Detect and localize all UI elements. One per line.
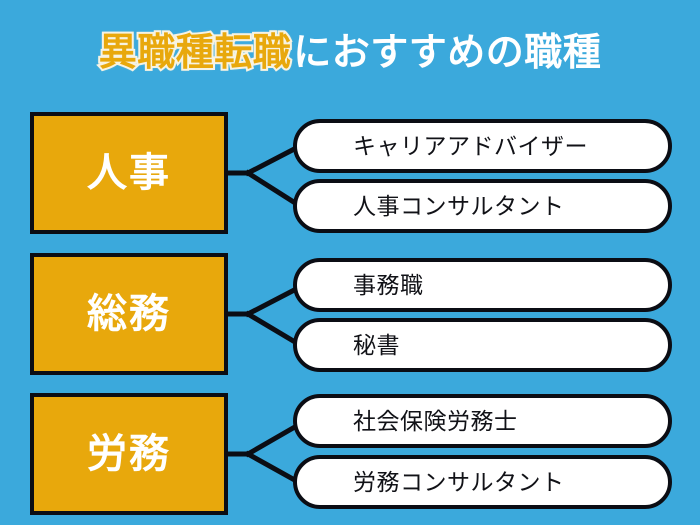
title-highlight: 異職種転職 (99, 34, 292, 72)
job-pill-label: 社会保険労務士 (353, 410, 518, 433)
connector-line (248, 287, 300, 314)
job-pill-label: 人事コンサルタント (353, 195, 565, 218)
connector-line (248, 314, 300, 345)
infographic-canvas: 異職種転職におすすめの職種 人事キャリアアドバイザー人事コンサルタント総務事務職… (0, 0, 700, 525)
job-pill[interactable]: 事務職 (293, 258, 672, 312)
job-pill[interactable]: キャリアアドバイザー (293, 119, 672, 173)
job-pill-label: 秘書 (353, 334, 400, 357)
category-label: 総務 (87, 294, 171, 334)
title-rest: におすすめの職種 (293, 34, 601, 72)
category-box[interactable]: 労務 (30, 393, 228, 515)
category-label: 労務 (87, 434, 171, 474)
connector-line (248, 424, 300, 454)
connector-line (248, 146, 300, 173)
job-pill[interactable]: 秘書 (293, 318, 672, 372)
job-pill-label: キャリアアドバイザー (353, 135, 588, 158)
page-title: 異職種転職におすすめの職種 (0, 22, 700, 84)
job-pill[interactable]: 人事コンサルタント (293, 179, 672, 233)
job-pill-label: 労務コンサルタント (353, 471, 565, 494)
job-pill[interactable]: 労務コンサルタント (293, 455, 672, 509)
connector-line (248, 173, 300, 206)
category-box[interactable]: 人事 (30, 112, 228, 234)
category-label: 人事 (87, 153, 171, 193)
job-pill[interactable]: 社会保険労務士 (293, 394, 672, 448)
job-pill-label: 事務職 (353, 274, 424, 297)
category-box[interactable]: 総務 (30, 253, 228, 375)
